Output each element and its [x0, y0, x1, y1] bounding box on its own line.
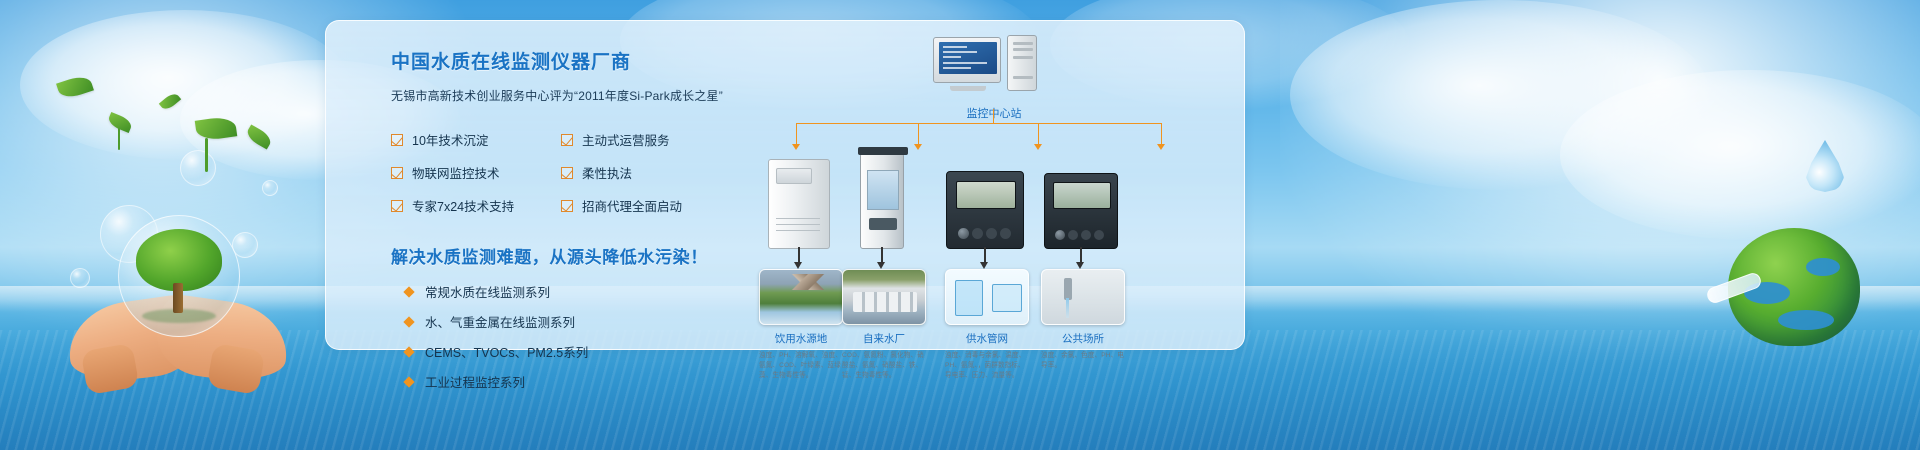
arrow-down-icon [792, 144, 800, 150]
right-wrist [207, 343, 266, 395]
arrow-line [984, 247, 986, 263]
hands-holding-tree-illustration [60, 215, 300, 385]
scenario-title: 饮用水源地 [759, 331, 843, 346]
water-droplet-icon [1806, 140, 1844, 192]
monitoring-topology-diagram: 监控中心站 [756, 35, 1226, 345]
eco-sphere [118, 215, 240, 337]
connector-horizontal [796, 123, 1162, 124]
section-title: 解决水质监测难题，从源头降低水污染！ [391, 243, 731, 268]
list-item: 工业过程监控系列 [391, 372, 731, 391]
list-item: CEMS、TVOCs、PM2.5系列 [391, 342, 731, 361]
scenario-photo-water-plant [842, 269, 926, 325]
device-panel [869, 218, 897, 230]
checkbox-checked-icon [561, 200, 573, 212]
tree-icon [136, 229, 222, 291]
check-item-label: 专家7x24技术支持 [412, 196, 514, 215]
device-window [867, 170, 899, 210]
connector-vertical [796, 123, 797, 145]
leaf-icon [106, 112, 133, 133]
arrow-down-icon [980, 262, 988, 269]
scenario-photo-public-place [1041, 269, 1125, 325]
check-item: 招商代理全面启动 [561, 196, 731, 215]
diamond-bullet-icon [403, 376, 414, 387]
arrow-down-icon [1034, 144, 1042, 150]
bubble-icon [262, 180, 278, 196]
right-palm [151, 292, 293, 388]
device-rack-analyzer [860, 153, 904, 249]
scenario-card[interactable]: 饮用水源地 浊度、PH、溶解氧、浊度、氨氮、COD、叶绿素、蓝绿藻、生物毒性等。 [759, 269, 843, 382]
check-item: 专家7x24技术支持 [391, 196, 561, 215]
scenario-parameters: 浊度、余氯、色度、PH、电导率。 [1041, 351, 1125, 371]
arrow-down-icon [877, 262, 885, 269]
list-item-label: 常规水质在线监测系列 [425, 282, 550, 301]
arrow-line [1080, 247, 1082, 263]
globe-water [1744, 282, 1790, 304]
list-item: 常规水质在线监测系列 [391, 282, 731, 301]
left-wrist [81, 343, 140, 395]
tree-shadow [142, 309, 216, 323]
scenario-parameters: COD、氨氮粉、氯化物、硝酸盐、氨氮、硝酸盐、铁、锰、生物毒性等。 [842, 351, 926, 382]
leaf-icon [56, 73, 94, 101]
diamond-bullet-icon [403, 286, 414, 297]
leaf-icon [195, 115, 238, 141]
cloud-icon [1290, 0, 1710, 190]
device-controller-small [1044, 173, 1118, 249]
connector-vertical [1161, 123, 1162, 145]
test-tube-icon [1705, 271, 1763, 305]
scenario-card[interactable]: 自来水厂 COD、氨氮粉、氯化物、硝酸盐、氨氮、硝酸盐、铁、锰、生物毒性等。 [842, 269, 926, 382]
monitor-icon [933, 37, 1001, 83]
page-title: 中国水质在线监测仪器厂商 [391, 47, 731, 74]
check-item-label: 招商代理全面启动 [582, 196, 682, 215]
scenario-parameters: 浊度、消毒与余氯、温度、PH、氨氮、，菌群数指标、导电率、压力、流量等。 [945, 351, 1029, 382]
scenario-title: 公共场所 [1041, 331, 1125, 346]
diamond-bullet-icon [403, 346, 414, 357]
device-buttons [1055, 230, 1065, 240]
check-item-label: 主动式运营服务 [582, 130, 670, 149]
arrow-down-icon [914, 144, 922, 150]
list-item: 水、气重金属在线监测系列 [391, 312, 731, 331]
content-panel: 中国水质在线监测仪器厂商 无锡市高新技术创业服务中心评为“2011年度Si-Pa… [325, 20, 1245, 350]
scenario-title: 自来水厂 [842, 331, 926, 346]
checkbox-checked-icon [561, 167, 573, 179]
checkbox-checked-icon [391, 134, 403, 146]
device-top-cap [858, 147, 908, 155]
left-palm [63, 292, 205, 388]
device-display [1053, 182, 1111, 209]
checkbox-checked-icon [391, 200, 403, 212]
device-cabinet-analyzer [768, 159, 830, 249]
cloud-icon [20, 10, 350, 160]
arrow-line [798, 247, 800, 263]
connector-up [993, 109, 994, 123]
bubble-icon [232, 232, 258, 258]
connector-vertical [1038, 123, 1039, 145]
scenario-card[interactable]: 公共场所 浊度、余氯、色度、PH、电导率。 [1041, 269, 1125, 371]
bubble-icon [180, 150, 216, 186]
leaf-icon [244, 124, 274, 149]
scenario-photo-drinking-water-source [759, 269, 843, 325]
tree-trunk [173, 283, 183, 313]
diamond-bullet-icon [403, 316, 414, 327]
globe-water [1778, 310, 1834, 330]
green-globe-icon [1728, 228, 1860, 346]
globe-water [1806, 258, 1840, 276]
arrow-down-icon [794, 262, 802, 269]
leaf-icon [159, 91, 181, 112]
page-subtitle: 无锡市高新技术创业服务中心评为“2011年度Si-Park成长之星” [391, 87, 731, 104]
sun-glow [1280, 0, 1920, 360]
device-controller-large [946, 171, 1024, 249]
cloud-icon [1560, 70, 1920, 240]
check-item-label: 10年技术沉淀 [412, 130, 488, 149]
arrow-down-icon [1157, 144, 1165, 150]
application-scenarios: 饮用水源地 浊度、PH、溶解氧、浊度、氨氮、COD、叶绿素、蓝绿藻、生物毒性等。… [756, 269, 1226, 347]
arrow-down-icon [1076, 262, 1084, 269]
product-series-list: 常规水质在线监测系列 水、气重金属在线监测系列 CEMS、TVOCs、PM2.5… [391, 282, 731, 391]
scenario-card[interactable]: 供水管网 浊度、消毒与余氯、温度、PH、氨氮、，菌群数指标、导电率、压力、流量等… [945, 269, 1029, 382]
check-item-label: 柔性执法 [582, 163, 632, 182]
scenario-title: 供水管网 [945, 331, 1029, 346]
device-display [956, 181, 1016, 209]
scenario-parameters: 浊度、PH、溶解氧、浊度、氨氮、COD、叶绿素、蓝绿藻、生物毒性等。 [759, 351, 843, 382]
device-buttons [958, 228, 969, 239]
checkbox-checked-icon [391, 167, 403, 179]
device-row [756, 153, 1226, 249]
list-item-label: CEMS、TVOCs、PM2.5系列 [425, 342, 588, 361]
bubble-icon [100, 205, 158, 263]
list-item-label: 水、气重金属在线监测系列 [425, 312, 575, 331]
monitor-stand [950, 86, 986, 91]
check-item: 10年技术沉淀 [391, 130, 561, 149]
connector-vertical [918, 123, 919, 145]
control-center-computer-icon [933, 35, 1053, 97]
check-item-label: 物联网监控技术 [412, 163, 500, 182]
check-item: 主动式运营服务 [561, 130, 731, 149]
check-item: 物联网监控技术 [391, 163, 561, 182]
monitor-screen [939, 42, 997, 74]
arrow-line [881, 247, 883, 263]
checkbox-checked-icon [561, 134, 573, 146]
sprout-stem [118, 128, 120, 150]
bubble-icon [70, 268, 90, 288]
sprout-stem [205, 138, 208, 172]
check-item: 柔性执法 [561, 163, 731, 182]
feature-check-list: 10年技术沉淀 主动式运营服务 物联网监控技术 柔性执法 专家7x24技术支持 … [391, 130, 731, 215]
marketing-copy-column: 中国水质在线监测仪器厂商 无锡市高新技术创业服务中心评为“2011年度Si-Pa… [391, 47, 731, 402]
list-item-label: 工业过程监控系列 [425, 372, 525, 391]
downward-arrow-row [756, 247, 1226, 271]
scenario-photo-pipe-network [945, 269, 1029, 325]
pc-tower-icon [1007, 35, 1037, 91]
